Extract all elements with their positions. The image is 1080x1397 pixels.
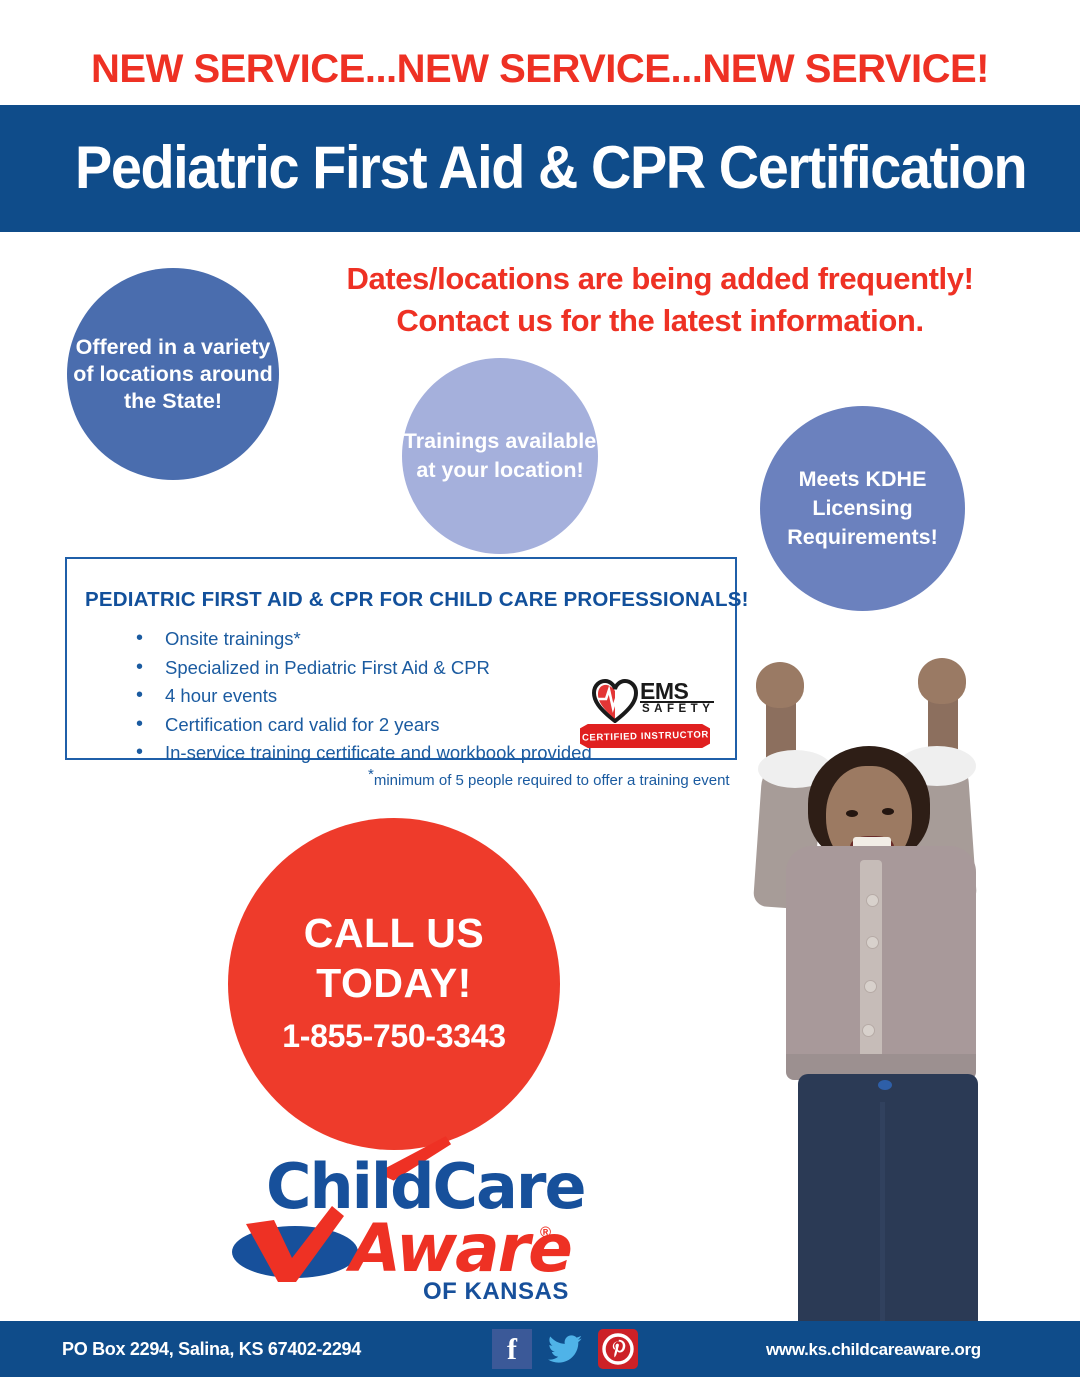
logo-aware-text: Aware (350, 1210, 571, 1287)
ems-logo-top: EMS SAFETY (592, 678, 710, 724)
list-item: 4 hour events (103, 682, 592, 711)
info-box-title: PEDIATRIC FIRST AID & CPR FOR CHILD CARE… (85, 588, 749, 612)
subheadline: Dates/locations are being added frequent… (300, 258, 1020, 342)
info-box-bullet-list: Onsite trainings* Specialized in Pediatr… (103, 625, 592, 768)
logo-of-kansas-text: OF KANSAS (423, 1278, 569, 1306)
page-title: Pediatric First Aid & CPR Certification (75, 129, 1026, 207)
footer-address: PO Box 2294, Salina, KS 67402-2294 (62, 1339, 361, 1360)
phone-number[interactable]: 1-855-750-3343 (282, 1012, 506, 1060)
list-item: Onsite trainings* (103, 625, 592, 654)
bubble-3-label: Meets KDHE Licensing Requirements! (760, 465, 965, 552)
bubble-2-label: Trainings available at your location! (402, 427, 598, 485)
footer-website[interactable]: www.ks.childcareaware.org (766, 1340, 981, 1360)
flyer-page: NEW SERVICE...NEW SERVICE...NEW SERVICE!… (0, 0, 1080, 1397)
pinterest-icon[interactable] (598, 1329, 638, 1369)
footer-bar: PO Box 2294, Salina, KS 67402-2294 f www… (0, 1321, 1080, 1377)
ems-heart-icon (592, 679, 638, 723)
call-us-badge[interactable]: CALL US TODAY! 1-855-750-3343 (228, 818, 560, 1150)
child-photo (700, 650, 1080, 1338)
facebook-glyph: f (507, 1333, 517, 1367)
list-item: Certification card valid for 2 years (103, 711, 592, 740)
footnote-text: minimum of 5 people required to offer a … (374, 772, 730, 789)
logo-registered-mark: ® (540, 1224, 551, 1241)
bubble-offered-locations: Offered in a variety of locations around… (67, 268, 279, 480)
footnote: *minimum of 5 people required to offer a… (368, 766, 730, 789)
twitter-bird-glyph (545, 1329, 585, 1369)
list-item: Specialized in Pediatric First Aid & CPR (103, 654, 592, 683)
logo-checkmark-icon (240, 1206, 350, 1284)
bubble-1-label: Offered in a variety of locations around… (67, 334, 279, 415)
bubble-trainings-at-your-location: Trainings available at your location! (402, 358, 598, 554)
social-links: f (492, 1329, 642, 1369)
ems-wordmark: EMS (640, 680, 688, 703)
page-headline: NEW SERVICE...NEW SERVICE...NEW SERVICE! (0, 46, 1080, 92)
child-care-aware-logo: ChildCare Aware ® OF KANSAS (218, 1128, 578, 1313)
pinterest-glyph (598, 1329, 638, 1369)
subheadline-line-2: Contact us for the latest information. (300, 300, 1020, 342)
facebook-icon[interactable]: f (492, 1329, 532, 1369)
call-us-line-1: CALL US (304, 908, 484, 958)
title-banner: Pediatric First Aid & CPR Certification (0, 105, 1080, 232)
call-us-line-2: TODAY! (316, 958, 472, 1008)
twitter-icon[interactable] (545, 1329, 585, 1369)
bubble-meets-kdhe: Meets KDHE Licensing Requirements! (760, 406, 965, 611)
ems-ribbon-label: CERTIFIED INSTRUCTOR (581, 729, 708, 743)
subheadline-line-1: Dates/locations are being added frequent… (300, 258, 1020, 300)
ems-safety-logo: EMS SAFETY CERTIFIED INSTRUCTOR (580, 678, 710, 750)
ems-ribbon: CERTIFIED INSTRUCTOR (580, 724, 710, 748)
list-item: In-service training certificate and work… (103, 739, 592, 768)
